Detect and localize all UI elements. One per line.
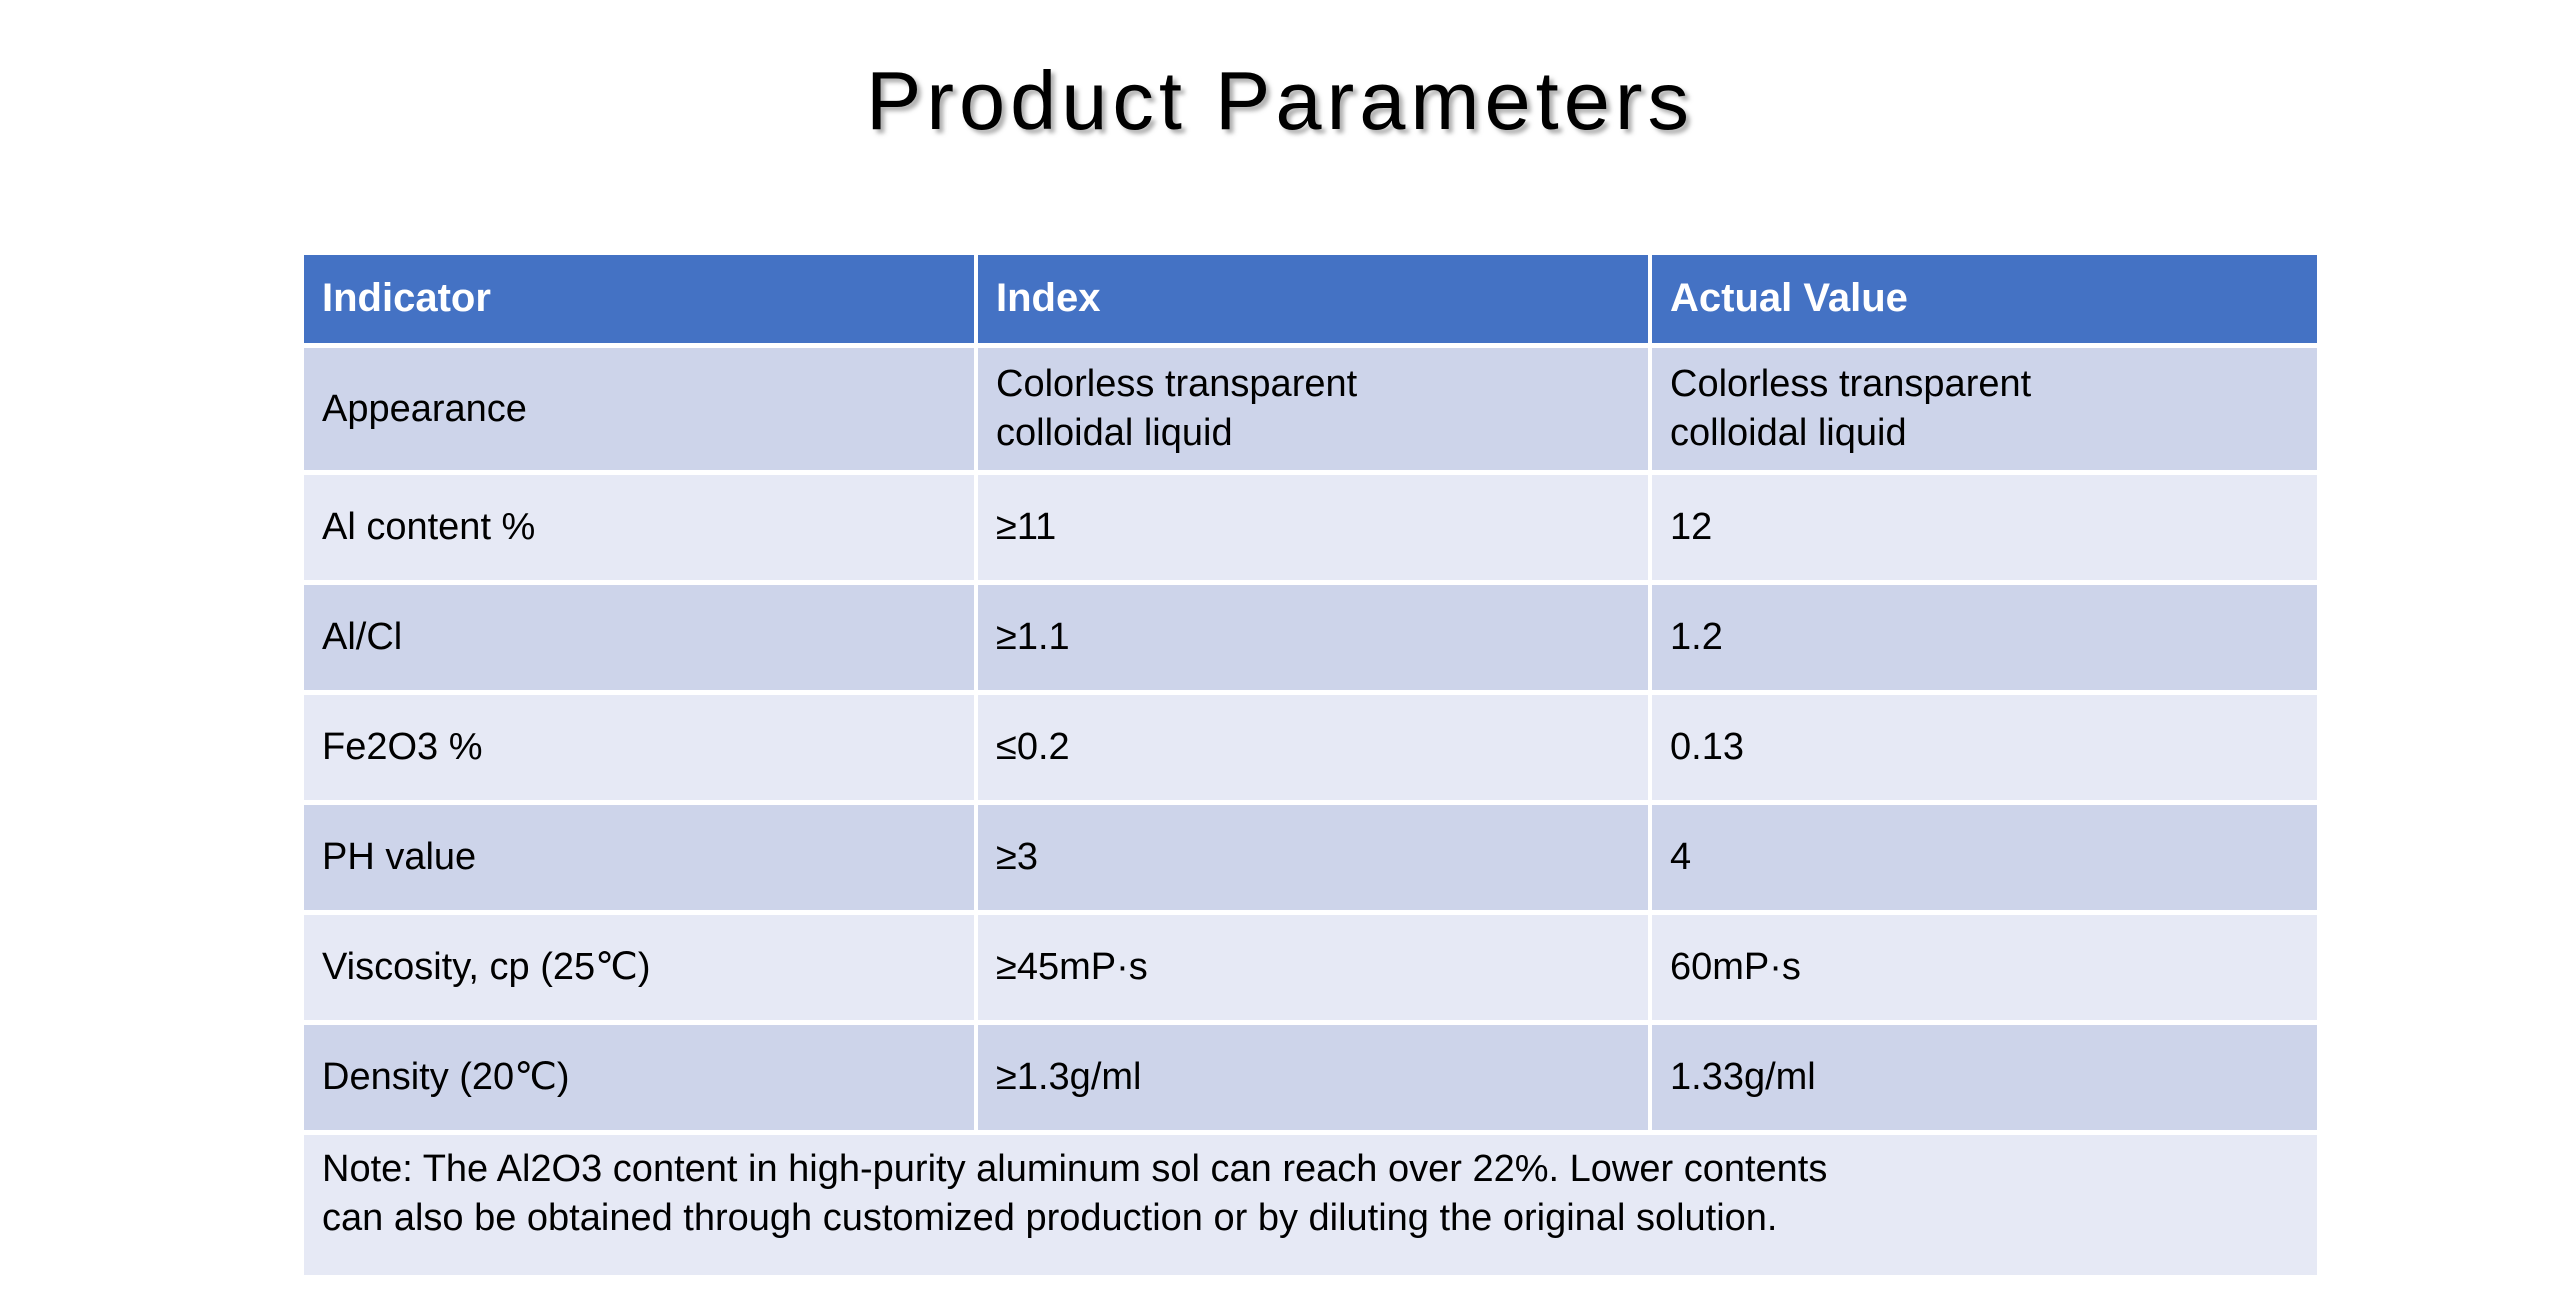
cell-actual-value: 1.33g/ml	[1652, 1025, 2317, 1130]
table-row: Appearance Colorless transparent colloid…	[304, 348, 2317, 470]
table-header: Indicator Index Actual Value	[304, 255, 2317, 343]
slide-canvas: Product Parameters Indicator Index Actua…	[0, 0, 2560, 1302]
cell-indicator: Fe2O3 %	[304, 695, 974, 800]
cell-actual-line-2: colloidal liquid	[1670, 409, 2299, 458]
cell-index: ≥1.3g/ml	[978, 1025, 1648, 1130]
cell-indicator: Appearance	[304, 348, 974, 470]
cell-actual-value: 4	[1652, 805, 2317, 910]
cell-actual-value: 12	[1652, 475, 2317, 580]
cell-indicator: Viscosity, cp (25℃)	[304, 915, 974, 1020]
cell-index: ≤0.2	[978, 695, 1648, 800]
table-row: PH value ≥3 4	[304, 805, 2317, 910]
cell-indicator: Al/Cl	[304, 585, 974, 690]
column-header-indicator: Indicator	[304, 255, 974, 343]
column-header-index: Index	[978, 255, 1648, 343]
cell-index-line-1: Colorless transparent	[996, 360, 1630, 409]
cell-indicator: PH value	[304, 805, 974, 910]
cell-actual-value: 1.2	[1652, 585, 2317, 690]
cell-index: Colorless transparent colloidal liquid	[978, 348, 1648, 470]
cell-actual-value: 60mP·s	[1652, 915, 2317, 1020]
cell-index-line-2: colloidal liquid	[996, 409, 1630, 458]
cell-index: ≥3	[978, 805, 1648, 910]
cell-note: Note: The Al2O3 content in high-purity a…	[304, 1135, 2317, 1275]
table-row: Fe2O3 % ≤0.2 0.13	[304, 695, 2317, 800]
cell-actual-value: Colorless transparent colloidal liquid	[1652, 348, 2317, 470]
cell-actual-line-1: Colorless transparent	[1670, 360, 2299, 409]
cell-index: ≥1.1	[978, 585, 1648, 690]
cell-indicator: Al content %	[304, 475, 974, 580]
table-body: Appearance Colorless transparent colloid…	[304, 348, 2317, 1275]
cell-actual-value: 0.13	[1652, 695, 2317, 800]
note-line-2: can also be obtained through customized …	[322, 1194, 2299, 1243]
product-parameters-table-wrapper: Indicator Index Actual Value Appearance …	[300, 250, 2313, 1280]
page-title: Product Parameters	[0, 55, 2560, 146]
table-row: Al content % ≥11 12	[304, 475, 2317, 580]
table-row: Density (20℃) ≥1.3g/ml 1.33g/ml	[304, 1025, 2317, 1130]
cell-index: ≥11	[978, 475, 1648, 580]
note-line-1: Note: The Al2O3 content in high-purity a…	[322, 1145, 2299, 1194]
product-parameters-table: Indicator Index Actual Value Appearance …	[300, 250, 2321, 1280]
cell-indicator: Density (20℃)	[304, 1025, 974, 1130]
cell-index: ≥45mP·s	[978, 915, 1648, 1020]
table-row: Viscosity, cp (25℃) ≥45mP·s 60mP·s	[304, 915, 2317, 1020]
column-header-actual-value: Actual Value	[1652, 255, 2317, 343]
table-header-row: Indicator Index Actual Value	[304, 255, 2317, 343]
table-note-row: Note: The Al2O3 content in high-purity a…	[304, 1135, 2317, 1275]
table-row: Al/Cl ≥1.1 1.2	[304, 585, 2317, 690]
